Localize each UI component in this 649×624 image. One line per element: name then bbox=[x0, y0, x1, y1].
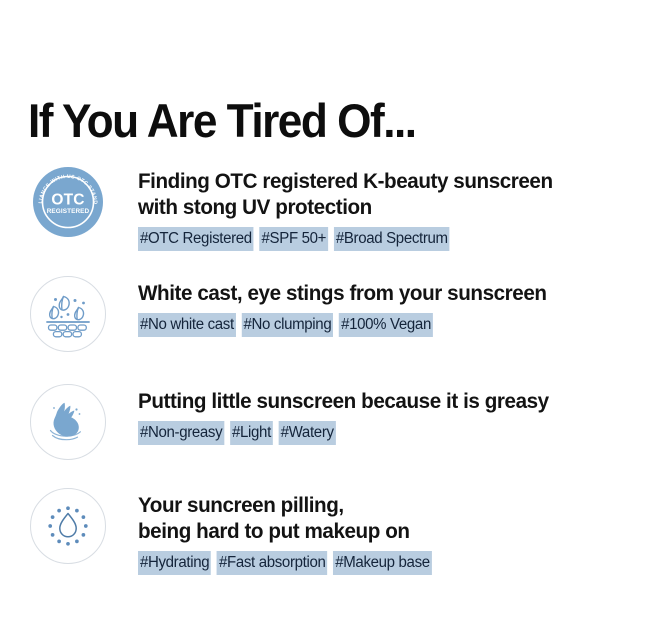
svg-text:REGISTERED: REGISTERED bbox=[47, 208, 90, 215]
page-title: If You Are Tired Of... bbox=[28, 93, 416, 149]
tag: #No clumping bbox=[242, 313, 334, 337]
tag: #Light bbox=[230, 421, 273, 445]
headline: Putting little sunscreen because it is g… bbox=[138, 388, 629, 414]
otc-badge-svg: COMPLIANCE WITH US OTC STANDARDS OTC REG… bbox=[30, 164, 106, 240]
hydration-droplet-svg bbox=[30, 488, 106, 564]
svg-text:OTC: OTC bbox=[51, 192, 84, 209]
row-text-block: White cast, eye stings from your sunscre… bbox=[106, 270, 649, 337]
list-item: White cast, eye stings from your sunscre… bbox=[0, 270, 649, 378]
water-splash-icon bbox=[30, 384, 106, 460]
tag-list: #No white cast #No clumping #100% Vegan bbox=[138, 313, 634, 337]
benefit-rows-list: COMPLIANCE WITH US OTC STANDARDS OTC REG… bbox=[0, 158, 649, 602]
list-item: COMPLIANCE WITH US OTC STANDARDS OTC REG… bbox=[0, 158, 649, 270]
headline: White cast, eye stings from your sunscre… bbox=[138, 280, 629, 306]
tag: #100% Vegan bbox=[339, 313, 433, 337]
headline: Your suncreen pilling, being hard to put… bbox=[138, 492, 629, 544]
tag: #Makeup base bbox=[333, 551, 431, 575]
tag: #Hydrating bbox=[138, 551, 211, 575]
otc-registered-badge-icon: COMPLIANCE WITH US OTC STANDARDS OTC REG… bbox=[30, 164, 106, 240]
tag: #Fast absorption bbox=[217, 551, 327, 575]
row-text-block: Putting little sunscreen because it is g… bbox=[106, 378, 649, 445]
tag-list: #Non-greasy #Light #Watery bbox=[138, 421, 634, 445]
row-text-block: Finding OTC registered K-beauty sunscree… bbox=[106, 158, 649, 251]
row-text-block: Your suncreen pilling, being hard to put… bbox=[106, 482, 649, 575]
tag: #Non-greasy bbox=[138, 421, 224, 445]
list-item: Putting little sunscreen because it is g… bbox=[0, 378, 649, 482]
hydration-droplet-dots-icon bbox=[30, 488, 106, 564]
leaves-barrier-svg bbox=[30, 276, 106, 352]
tag-list: #Hydrating #Fast absorption #Makeup base bbox=[138, 551, 634, 575]
tag: #Watery bbox=[279, 421, 336, 445]
tag: #Broad Spectrum bbox=[334, 227, 450, 251]
tag: #No white cast bbox=[138, 313, 236, 337]
leaves-over-barrier-icon bbox=[30, 276, 106, 352]
tag-list: #OTC Registered #SPF 50+ #Broad Spectrum bbox=[138, 227, 634, 251]
tag: #SPF 50+ bbox=[260, 227, 328, 251]
headline: Finding OTC registered K-beauty sunscree… bbox=[138, 168, 629, 220]
tag: #OTC Registered bbox=[138, 227, 254, 251]
list-item: Your suncreen pilling, being hard to put… bbox=[0, 482, 649, 602]
water-splash-svg bbox=[30, 384, 106, 460]
promo-infographic-page: If You Are Tired Of... COMPLIANCE WITH U… bbox=[0, 0, 649, 624]
